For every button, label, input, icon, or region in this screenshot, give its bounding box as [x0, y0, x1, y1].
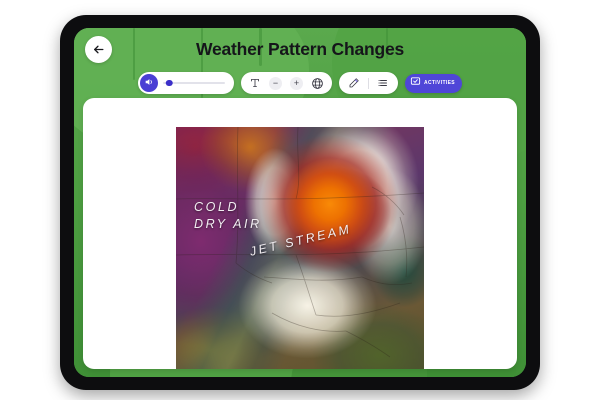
speaker-volume-icon — [144, 74, 154, 92]
tablet-device-frame: Weather Pattern Changes — [60, 15, 540, 390]
back-button[interactable] — [85, 36, 112, 63]
toolbar-divider — [368, 78, 369, 89]
lesson-content-card: COLD DRY AIR JET STREAM — [83, 98, 517, 369]
volume-slider-thumb[interactable] — [166, 80, 173, 87]
page-title: Weather Pattern Changes — [74, 39, 526, 60]
screenshot-stage: Weather Pattern Changes — [0, 0, 600, 400]
decrease-text-size-button[interactable]: − — [269, 77, 282, 90]
activities-button[interactable]: ACTIVITIES — [405, 74, 462, 93]
increase-text-size-button[interactable]: + — [290, 77, 303, 90]
tablet-screen: Weather Pattern Changes — [74, 28, 526, 377]
list-lines-icon[interactable] — [377, 77, 389, 89]
weather-satellite-image[interactable]: COLD DRY AIR JET STREAM — [176, 127, 424, 369]
activities-button-label: ACTIVITIES — [424, 80, 455, 86]
annotation-tools-group — [339, 72, 398, 94]
volume-slider[interactable] — [163, 74, 225, 92]
map-boundary-lines — [176, 127, 424, 369]
text-settings-group: − + — [241, 72, 332, 94]
back-arrow-icon — [92, 43, 105, 56]
volume-mute-button[interactable] — [140, 74, 158, 92]
volume-control-group — [138, 72, 234, 94]
activities-monitor-icon — [410, 74, 421, 92]
text-format-icon[interactable] — [249, 77, 261, 89]
globe-icon[interactable] — [311, 77, 324, 90]
toolbar: − + — [74, 72, 526, 94]
highlighter-pen-icon[interactable] — [348, 77, 360, 89]
